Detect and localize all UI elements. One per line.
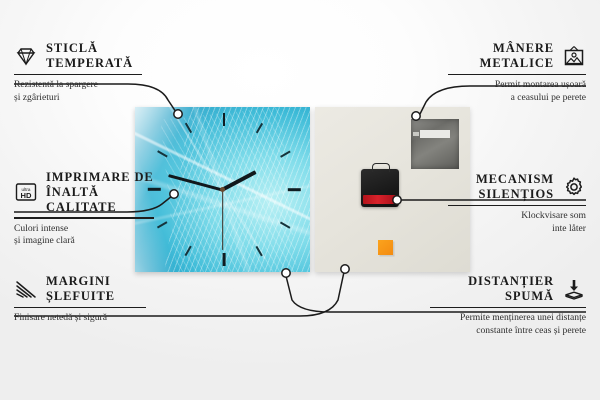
- press-down-pad-icon: [562, 277, 586, 301]
- svg-text:HD: HD: [21, 191, 32, 200]
- feature-subtitle: Culori intense și imagine clară: [14, 223, 154, 248]
- feature-foam-spacer[interactable]: DISTANȚIER SPUMĂ Permite menținerea unei…: [430, 274, 586, 337]
- feature-title: MÂNERE METALICE: [480, 41, 554, 71]
- diamond-icon: [14, 44, 38, 68]
- clock-face-panel: [135, 107, 310, 272]
- feature-high-quality-print[interactable]: ultra HD IMPRIMARE DE ÎNALTĂ CALITATE Cu…: [14, 170, 154, 248]
- divider: [14, 74, 142, 75]
- hanger-slot: [420, 130, 450, 138]
- feature-tempered-glass[interactable]: STICLĂ TEMPERATĂ Rezistentă la spargere …: [14, 41, 142, 104]
- infographic-canvas: STICLĂ TEMPERATĂ Rezistentă la spargere …: [0, 0, 600, 400]
- feature-title: DISTANȚIER SPUMĂ: [468, 274, 554, 304]
- second-hand: [222, 190, 223, 250]
- feature-subtitle: Finisare netedă și sigură: [14, 312, 146, 325]
- beveled-edge-icon: [14, 277, 38, 301]
- feature-header: STICLĂ TEMPERATĂ: [14, 41, 142, 71]
- feature-header: DISTANȚIER SPUMĂ: [430, 274, 586, 304]
- quartz-movement-part: [361, 169, 399, 207]
- feature-title: MECANISM SILENȚIOS: [476, 172, 554, 202]
- divider: [430, 307, 586, 308]
- feature-header: ultra HD IMPRIMARE DE ÎNALTĂ CALITATE: [14, 170, 154, 214]
- feature-metal-handles[interactable]: MÂNERE METALICE Permit montarea ușoară a…: [448, 41, 586, 104]
- divider: [14, 307, 146, 308]
- battery-part: [363, 195, 396, 204]
- clock-tick: [287, 188, 300, 191]
- divider: [14, 217, 154, 218]
- feature-title: MARGINI ȘLEFUITE: [46, 274, 115, 304]
- gear-icon: [562, 175, 586, 199]
- clock-center-pin: [220, 187, 225, 192]
- clock-tick: [223, 253, 226, 266]
- divider: [448, 205, 586, 206]
- ultra-hd-icon: ultra HD: [14, 180, 38, 204]
- product-image-group: [135, 107, 470, 272]
- feature-polished-edges[interactable]: MARGINI ȘLEFUITE Finisare netedă și sigu…: [14, 274, 146, 325]
- feature-subtitle: Rezistentă la spargere și zgârieturi: [14, 79, 142, 104]
- feature-header: MÂNERE METALICE: [448, 41, 586, 71]
- clock-back-panel: [315, 107, 470, 272]
- feature-title: IMPRIMARE DE ÎNALTĂ CALITATE: [46, 170, 154, 214]
- metal-hanger-part: [411, 119, 459, 169]
- divider: [448, 74, 586, 75]
- feature-header: MECANISM SILENȚIOS: [448, 172, 586, 202]
- framed-picture-hanger-icon: [562, 44, 586, 68]
- feature-silent-mechanism[interactable]: MECANISM SILENȚIOS Klockvisare som inte …: [448, 172, 586, 235]
- feature-header: MARGINI ȘLEFUITE: [14, 274, 146, 304]
- feature-subtitle: Permite menținerea unei distanțe constan…: [430, 312, 586, 337]
- foam-spacer-part: [378, 240, 393, 255]
- feature-subtitle: Permit montarea ușoară a ceasului pe per…: [448, 79, 586, 104]
- feature-subtitle: Klockvisare som inte låter: [448, 210, 586, 235]
- feature-title: STICLĂ TEMPERATĂ: [46, 41, 133, 71]
- clock-tick: [223, 113, 226, 126]
